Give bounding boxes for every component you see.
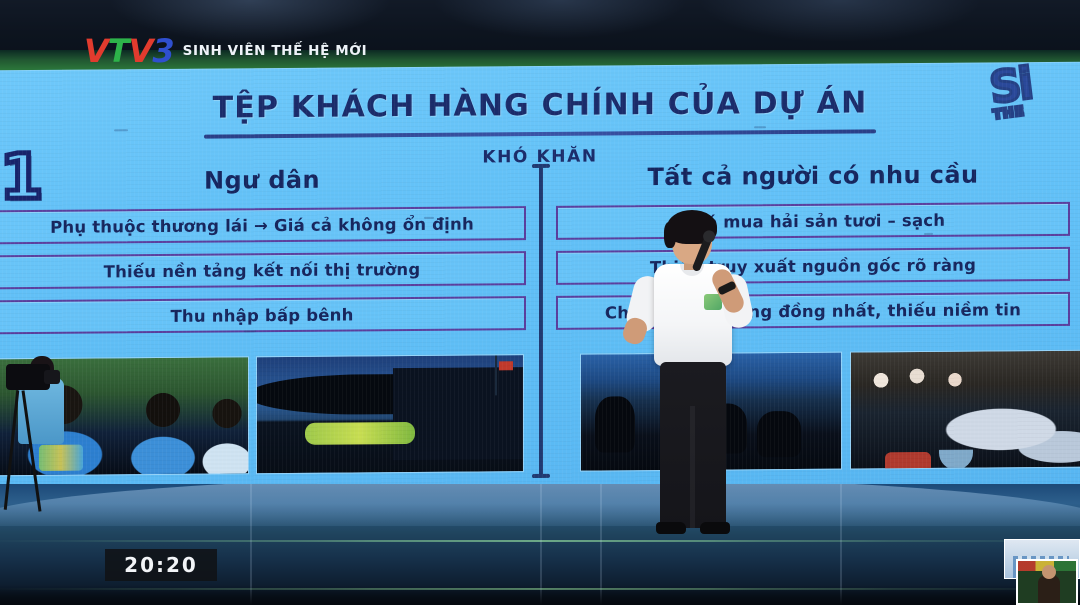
vtv3-logo: V T V 3: [84, 35, 174, 67]
presenter-left-shoe: [656, 522, 686, 534]
presenter-right-shoe: [700, 522, 730, 534]
slide-title-block: TỆP KHÁCH HÀNG CHÍNH CỦA DỰ ÁN KHÓ KHĂN: [0, 84, 1080, 172]
pain-point-label: Phụ thuộc thương lái → Giá cả không ổn đ…: [50, 214, 474, 236]
slide-photo-market: [850, 350, 1080, 470]
pain-point-label: Thiếu nền tảng kết nối thị trường: [104, 259, 421, 280]
pain-point-item: Thu nhập bấp bênh: [0, 296, 526, 334]
pip-host-video: [1016, 559, 1078, 605]
slide-photo-strip: [0, 350, 1080, 477]
studio-camera-rig: [0, 352, 64, 552]
pain-point-item: Thiếu nền tảng kết nối thị trường: [0, 251, 526, 289]
studio-scene: 1 Si THE TỆP KHÁCH HÀNG CHÍNH CỦA DỰ ÁN …: [0, 0, 1080, 605]
presenter: [618, 210, 768, 550]
timecode-display: 20:20: [105, 549, 217, 581]
column-heading-right: Tất cả người có nhu cầu: [556, 160, 1070, 192]
vtv3-logo-letter: V: [84, 35, 108, 67]
tripod-leg: [4, 390, 20, 510]
column-heading-left: Ngư dân: [0, 164, 526, 196]
vtv3-logo-letter: V: [129, 35, 153, 67]
picture-in-picture-overlay[interactable]: [1004, 539, 1080, 605]
pain-point-item: Phụ thuộc thương lái → Giá cả không ổn đ…: [0, 206, 526, 244]
slide-photo-boat: [256, 354, 524, 474]
presentation-slide: 1 Si THE TỆP KHÁCH HÀNG CHÍNH CỦA DỰ ÁN …: [0, 62, 1080, 495]
camera-lens-icon: [44, 370, 60, 384]
presenter-legs: [660, 362, 726, 528]
pain-point-label: Thu nhập bấp bênh: [170, 305, 353, 325]
program-name: SINH VIÊN THẾ HỆ MỚI: [183, 43, 368, 59]
studio-floor: [0, 484, 1080, 605]
vtv3-logo-letter: T: [108, 35, 129, 67]
page-title: TỆP KHÁCH HÀNG CHÍNH CỦA DỰ ÁN: [0, 84, 1080, 128]
vtv3-logo-letter: 3: [152, 35, 173, 67]
column-fishermen: Ngư dân Phụ thuộc thương lái → Giá cả kh…: [0, 164, 526, 345]
title-underline: [204, 129, 876, 138]
channel-bug: V T V 3 SINH VIÊN THẾ HỆ MỚI: [84, 32, 367, 70]
